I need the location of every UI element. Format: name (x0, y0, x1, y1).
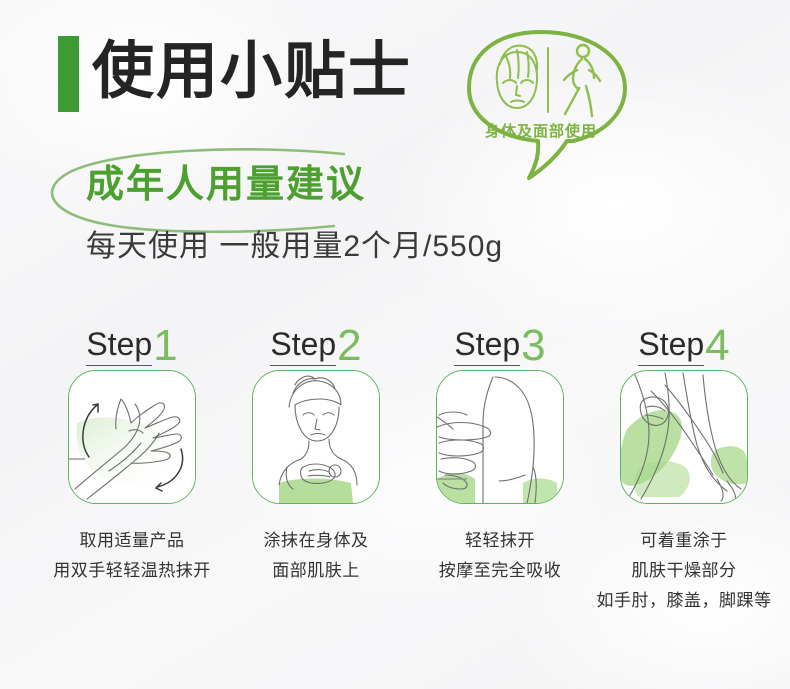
step-3-caption-line-1: 轻轻抹开 (439, 526, 562, 556)
step-2-number: 2 (337, 326, 361, 366)
step-3-caption: 轻轻抹开 按摩至完全吸收 (439, 526, 562, 586)
step-3-word: Step (454, 325, 520, 366)
step-1-caption-line-2: 用双手轻轻温热抹开 (53, 556, 211, 586)
badge-label: 身体及面部使用 (455, 120, 627, 141)
step-4-number: 4 (705, 326, 729, 366)
subtitle-heading: 成年人用量建议 (86, 158, 366, 212)
step-1-illustration (68, 370, 196, 504)
step-4-illustration (620, 370, 748, 504)
step-2-caption-line-2: 面部肌肤上 (264, 556, 369, 586)
step-4-caption-line-3: 如手肘，膝盖，脚踝等 (597, 586, 772, 616)
step-4-caption-line-2: 肌肤干燥部分 (597, 556, 772, 586)
step-2-word: Step (270, 325, 336, 366)
step-1-caption-line-1: 取用适量产品 (53, 526, 211, 556)
step-3: Step3 (410, 320, 590, 680)
step-2-caption: 涂抹在身体及 面部肌肤上 (264, 526, 369, 586)
tips-page: 使用小贴士 (0, 0, 790, 689)
step-4-label: Step4 (638, 320, 729, 366)
usage-badge: 身体及面部使用 (455, 26, 645, 186)
step-4: Step4 (594, 320, 774, 680)
step-3-label: Step3 (454, 320, 545, 366)
step-2-illustration (252, 370, 380, 504)
step-3-caption-line-2: 按摩至完全吸收 (439, 556, 562, 586)
step-4-caption-line-1: 可着重涂于 (597, 526, 772, 556)
dosage-text: 每天使用 一般用量2个月/550g (86, 224, 503, 270)
step-1-number: 1 (153, 326, 177, 366)
step-1-word: Step (86, 325, 152, 366)
step-2-caption-line-1: 涂抹在身体及 (264, 526, 369, 556)
step-4-word: Step (638, 325, 704, 366)
step-1-label: Step1 (86, 320, 177, 366)
step-1: Step1 (42, 320, 222, 680)
step-3-number: 3 (521, 326, 545, 366)
step-2-label: Step2 (270, 320, 361, 366)
steps-row: Step1 (0, 320, 790, 680)
step-2: Step2 (226, 320, 406, 680)
title-accent-bar (58, 36, 79, 112)
step-4-caption: 可着重涂于 肌肤干燥部分 如手肘，膝盖，脚踝等 (597, 526, 772, 616)
page-title: 使用小贴士 (92, 30, 412, 114)
step-3-illustration (436, 370, 564, 504)
step-1-caption: 取用适量产品 用双手轻轻温热抹开 (53, 526, 211, 586)
